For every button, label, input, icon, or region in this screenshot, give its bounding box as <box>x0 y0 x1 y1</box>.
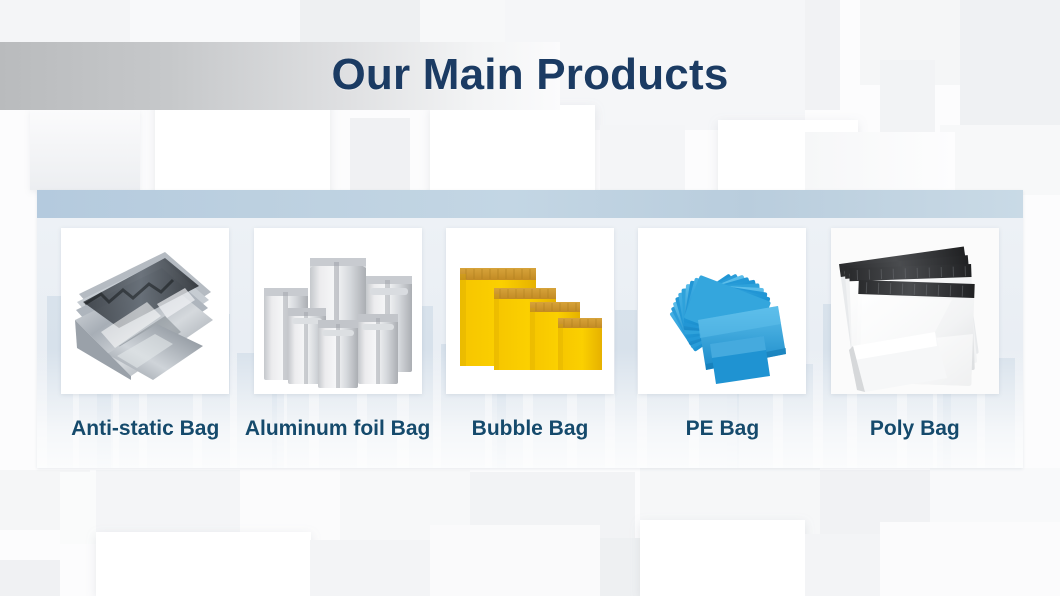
product-label: Anti-static Bag <box>71 417 219 441</box>
product-image-card[interactable] <box>446 228 614 394</box>
product-image-card[interactable] <box>638 228 806 394</box>
product-label: PE Bag <box>686 417 760 441</box>
title-container: Our Main Products <box>0 50 1060 100</box>
product-image-card[interactable] <box>831 228 999 394</box>
product-item-bubble-bag[interactable]: Bubble Bag <box>434 228 626 468</box>
product-image-card[interactable] <box>254 228 422 394</box>
product-label: Poly Bag <box>870 417 960 441</box>
product-item-aluminum-foil-bag[interactable]: Aluminum foil Bag <box>241 228 433 468</box>
product-list: Anti-static Bag <box>37 190 1023 468</box>
anti-static-bag-photo <box>61 228 229 394</box>
product-item-pe-bag[interactable]: PE Bag <box>626 228 818 468</box>
product-image-card[interactable] <box>61 228 229 394</box>
bubble-bag-photo <box>446 228 614 394</box>
pe-bag-photo <box>638 228 806 394</box>
product-label: Aluminum foil Bag <box>245 417 431 441</box>
poly-bag-photo <box>831 228 999 394</box>
aluminum-foil-bag-photo <box>254 228 422 394</box>
page-title: Our Main Products <box>0 50 1060 100</box>
product-label: Bubble Bag <box>472 417 589 441</box>
product-item-poly-bag[interactable]: Poly Bag <box>819 228 1011 468</box>
product-item-anti-static-bag[interactable]: Anti-static Bag <box>49 228 241 468</box>
